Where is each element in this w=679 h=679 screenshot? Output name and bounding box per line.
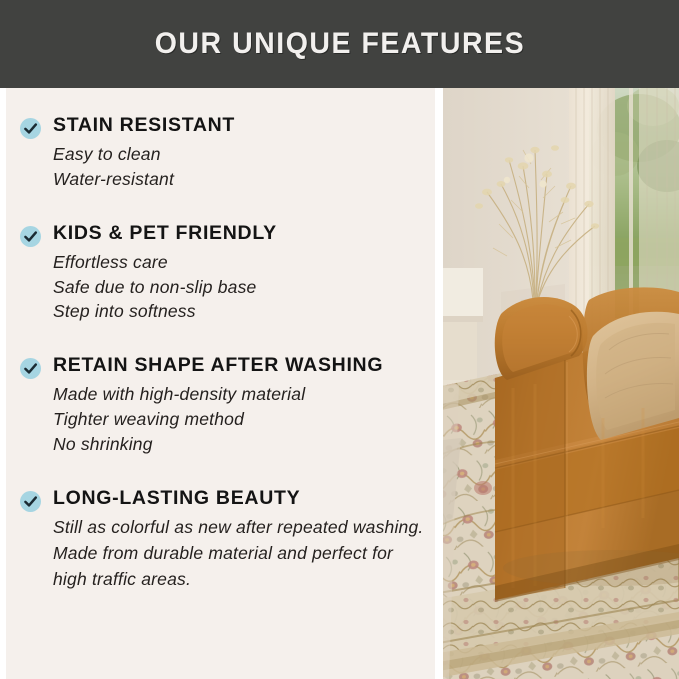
feature-line: Water-resistant bbox=[53, 167, 425, 192]
feature-line: Tighter weaving method bbox=[53, 407, 425, 432]
feature-item-kids-pet-friendly: KIDS & PET FRIENDLY Effortless care Safe… bbox=[20, 222, 425, 325]
check-circle-icon bbox=[20, 358, 41, 379]
header-banner: OUR UNIQUE FEATURES bbox=[0, 0, 679, 88]
feature-line: No shrinking bbox=[53, 432, 425, 457]
feature-title: LONG-LASTING BEAUTY bbox=[53, 487, 425, 510]
check-circle-icon bbox=[20, 118, 41, 139]
page-title: OUR UNIQUE FEATURES bbox=[154, 27, 524, 61]
feature-line: Easy to clean bbox=[53, 142, 425, 167]
feature-text: KIDS & PET FRIENDLY Effortless care Safe… bbox=[53, 222, 425, 325]
feature-title: STAIN RESISTANT bbox=[53, 114, 425, 137]
feature-line: Made with high-density material bbox=[53, 382, 425, 407]
check-circle-icon bbox=[20, 226, 41, 247]
features-infographic: OUR UNIQUE FEATURES STAIN RESISTANT Easy… bbox=[0, 0, 679, 679]
feature-item-long-lasting-beauty: LONG-LASTING BEAUTY Still as colorful as… bbox=[20, 487, 425, 593]
feature-text: STAIN RESISTANT Easy to clean Water-resi… bbox=[53, 114, 425, 192]
features-panel: STAIN RESISTANT Easy to clean Water-resi… bbox=[6, 88, 435, 679]
feature-line: Effortless care bbox=[53, 250, 425, 275]
feature-line: Safe due to non-slip base bbox=[53, 275, 425, 300]
check-circle-icon bbox=[20, 491, 41, 512]
feature-title: KIDS & PET FRIENDLY bbox=[53, 222, 425, 245]
feature-item-retain-shape: RETAIN SHAPE AFTER WASHING Made with hig… bbox=[20, 354, 425, 457]
feature-title: RETAIN SHAPE AFTER WASHING bbox=[53, 354, 425, 377]
living-room-rug-photo bbox=[443, 88, 679, 679]
feature-text: LONG-LASTING BEAUTY Still as colorful as… bbox=[53, 487, 425, 593]
feature-line: Step into softness bbox=[53, 299, 425, 324]
feature-item-stain-resistant: STAIN RESISTANT Easy to clean Water-resi… bbox=[20, 114, 425, 192]
body-area: STAIN RESISTANT Easy to clean Water-resi… bbox=[0, 88, 679, 679]
feature-paragraph: Still as colorful as new after repeated … bbox=[53, 515, 425, 593]
feature-text: RETAIN SHAPE AFTER WASHING Made with hig… bbox=[53, 354, 425, 457]
